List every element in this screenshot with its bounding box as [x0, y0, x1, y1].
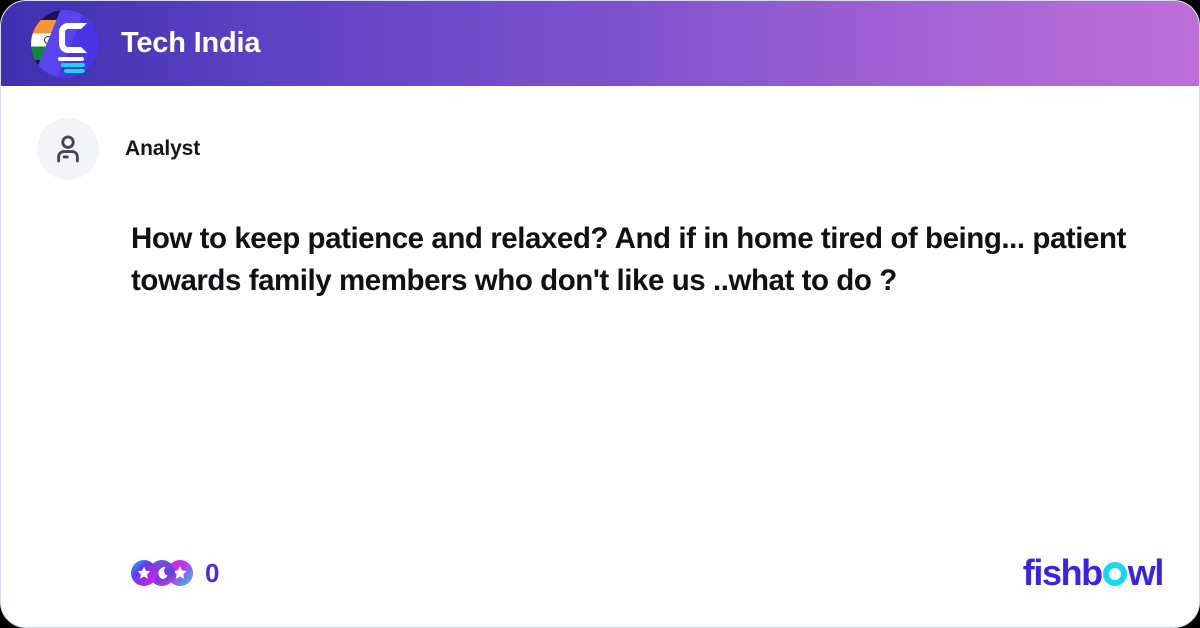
fishbowl-logo[interactable]: fishb wl — [1023, 552, 1163, 594]
cyan-o-ring-icon — [1103, 562, 1127, 586]
logo-line-2 — [61, 63, 85, 67]
reactions-group[interactable]: 0 — [131, 558, 219, 589]
star-glyph — [136, 565, 152, 581]
post-card: Tech India Analyst How to keep patience … — [0, 0, 1200, 628]
logo-line-3 — [64, 69, 85, 73]
post-body-text: How to keep patience and relaxed? And if… — [131, 218, 1161, 302]
tech-india-circular-logo-icon — [31, 10, 99, 78]
avatar[interactable] — [37, 118, 99, 180]
reaction-count: 0 — [205, 558, 219, 589]
card-header: Tech India — [1, 1, 1199, 86]
card-footer: 0 fishb wl — [37, 545, 1163, 601]
reaction-badge-stack[interactable] — [131, 560, 193, 586]
fishbowl-logo-text-part2: wl — [1128, 552, 1163, 594]
author-row: Analyst — [37, 118, 1163, 180]
logo-line-1 — [58, 57, 84, 61]
fishbowl-logo-text-part1: fishb — [1023, 552, 1102, 594]
author-name: Analyst — [125, 137, 200, 161]
card-body: Analyst How to keep patience and relaxed… — [1, 86, 1199, 627]
bowl-title[interactable]: Tech India — [121, 27, 260, 60]
star-reaction-icon[interactable] — [131, 560, 157, 586]
person-icon — [51, 132, 85, 166]
logo-c-mark-icon — [59, 23, 87, 53]
